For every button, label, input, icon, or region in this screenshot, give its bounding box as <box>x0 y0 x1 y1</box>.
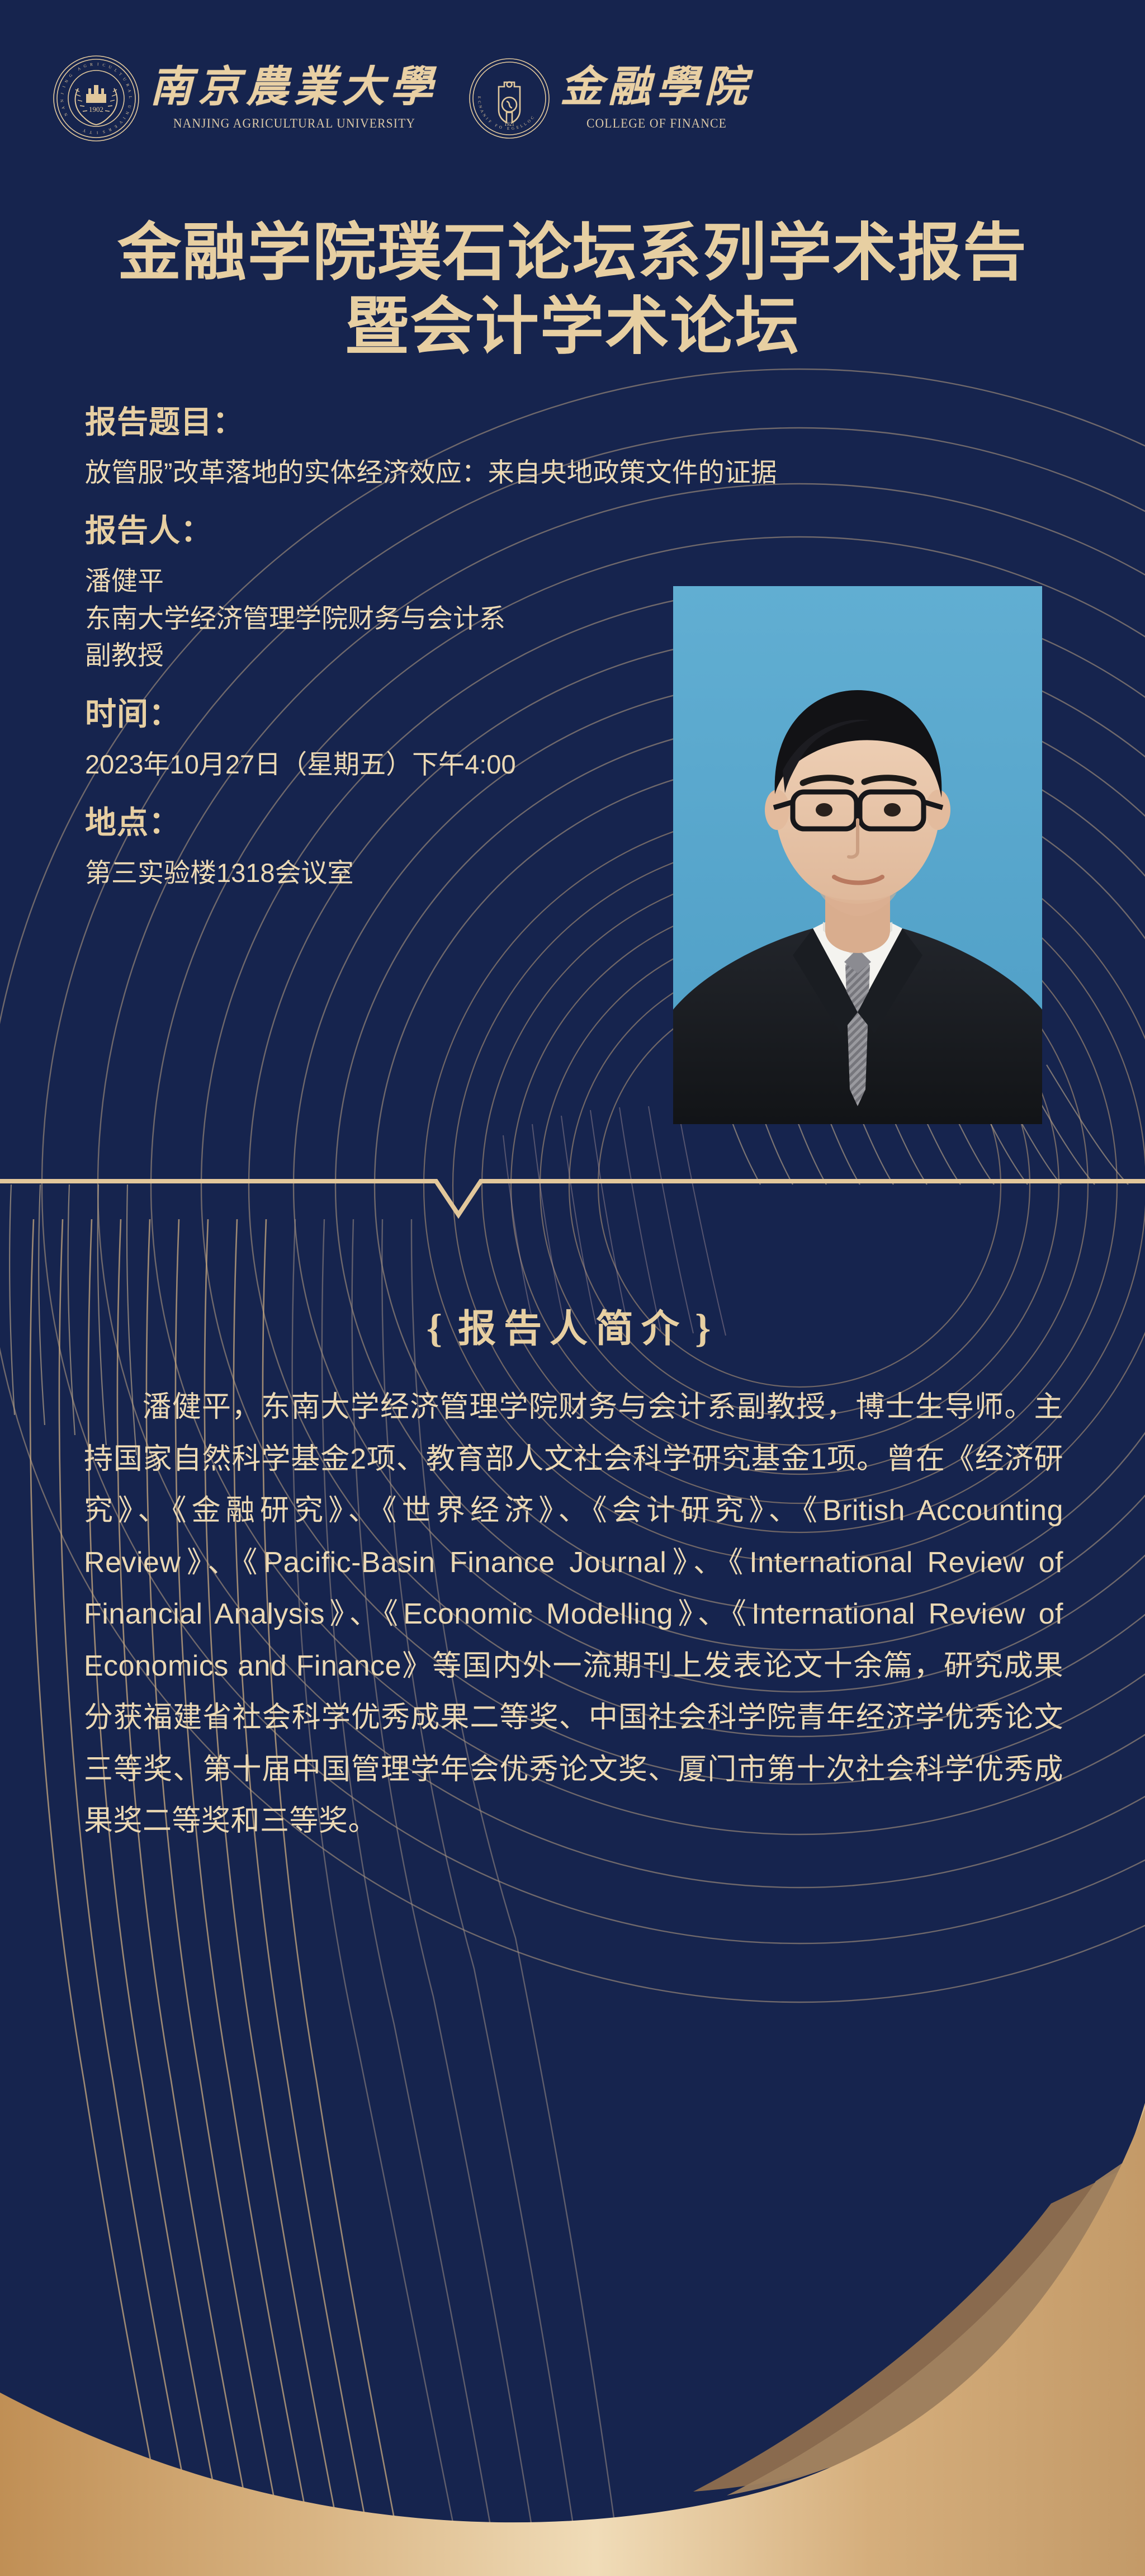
svg-text:A: A <box>479 109 484 114</box>
svg-text:E: E <box>477 96 481 99</box>
svg-text:I: I <box>62 85 67 88</box>
place-block: 地点： 第三实验楼1318会议室 <box>85 805 644 891</box>
svg-text:N: N <box>64 79 69 84</box>
svg-text:C: C <box>102 63 106 68</box>
svg-text:G: G <box>68 73 73 78</box>
header-logos: 1902 N A N J I N G A G R I C U L <box>51 54 753 143</box>
svg-text:L: L <box>128 96 133 99</box>
svg-text:O: O <box>527 119 532 124</box>
brace-left-icon: { <box>419 1306 458 1351</box>
poster-title: 金融学院璞石论坛系列学术报告 暨会计学术论坛 <box>0 216 1145 364</box>
bio-heading-text: 报告人简介 <box>458 1308 687 1350</box>
svg-text:R: R <box>108 127 112 132</box>
divider-line-with-notch-icon <box>0 1152 1145 1219</box>
college-wordmark-en: COLLEGE OF FINANCE <box>586 116 727 131</box>
university-wordmark-en: NANJING AGRICULTURAL UNIVERSITY <box>173 116 415 131</box>
svg-text:S: S <box>102 129 106 134</box>
svg-text:Y: Y <box>82 128 87 133</box>
svg-text:I: I <box>97 62 99 67</box>
svg-text:U: U <box>122 77 127 82</box>
time-block: 时间： 2023年10月27日（星期五）下午4:00 <box>85 697 644 783</box>
svg-text:I: I <box>96 130 98 135</box>
bio-paragraph-text: 潘健平，东南大学经济管理学院财务与会计系副教授，博士生导师。主持国家自然科学基金… <box>84 1391 1063 1837</box>
university-logo: 1902 N A N J I N G A G R I C U L <box>51 54 438 143</box>
bio-heading: {报告人简介} <box>0 1298 1145 1353</box>
svg-text:N: N <box>478 105 483 108</box>
svg-text:G: G <box>83 64 87 69</box>
college-wordmark: 金融學院 COLLEGE OF FINANCE <box>560 66 753 131</box>
svg-text:T: T <box>89 130 92 135</box>
brace-right-icon: } <box>687 1306 726 1351</box>
nanjing-agricultural-university-seal-icon: 1902 N A N J I N G A G R I C U L <box>51 54 141 143</box>
svg-text:A: A <box>77 66 82 72</box>
svg-text:T: T <box>118 72 123 77</box>
svg-text:E: E <box>507 126 510 131</box>
time-label: 时间： <box>85 697 644 732</box>
svg-text:C: C <box>477 101 482 104</box>
svg-text:R: R <box>90 62 93 67</box>
svg-text:N: N <box>482 113 487 118</box>
svg-text:I: I <box>485 117 489 121</box>
svg-text:N: N <box>63 112 69 117</box>
svg-text:E: E <box>113 124 118 129</box>
svg-text:I: I <box>122 116 126 120</box>
speaker-photo-illustration <box>673 586 1042 1124</box>
svg-text:J: J <box>60 92 64 95</box>
svg-text:U: U <box>126 105 131 109</box>
svg-text:U: U <box>108 65 113 70</box>
svg-text:V: V <box>118 120 124 125</box>
poster-root: 1902 N A N J I N G A G R I C U L <box>0 0 1145 2576</box>
svg-text:A: A <box>61 105 66 110</box>
time-value: 2023年10月27日（星期五）下午4:00 <box>85 746 644 784</box>
svg-text:C: C <box>530 115 535 120</box>
topic-value: 放管服”改革落地的实体经济效应：来自央地政策文件的证据 <box>85 454 644 492</box>
background-decoration <box>0 0 1145 2576</box>
speaker-block: 报告人： 潘健平 东南大学经济管理学院财务与会计系 副教授 <box>85 513 644 674</box>
college-of-finance-seal-icon: 1921 C O L L E G E O F F I N A N C <box>467 56 551 140</box>
svg-text:L: L <box>519 124 523 129</box>
event-info: 报告题目： 放管服”改革落地的实体经济效应：来自央地政策文件的证据 报告人： 潘… <box>85 405 644 914</box>
svg-text:O: O <box>499 125 503 130</box>
svg-text:A: A <box>127 89 132 93</box>
speaker-affiliation: 东南大学经济管理学院财务与会计系 <box>85 600 644 638</box>
svg-text:G: G <box>512 126 515 131</box>
place-value: 第三实验楼1318会议室 <box>85 855 644 892</box>
speaker-portrait <box>673 586 1042 1124</box>
svg-text:L: L <box>523 121 528 126</box>
speaker-label: 报告人： <box>85 513 644 548</box>
svg-text:L: L <box>113 68 118 73</box>
svg-text:R: R <box>125 83 130 87</box>
topic-block: 报告题目： 放管服”改革落地的实体经济效应：来自央地政策文件的证据 <box>85 405 644 491</box>
title-line-2: 暨会计学术论坛 <box>0 290 1145 364</box>
college-wordmark-cn: 金融學院 <box>560 66 753 108</box>
speaker-name: 潘健平 <box>85 563 644 600</box>
topic-label: 报告题目： <box>85 405 644 440</box>
seal-year: 1902 <box>89 105 103 114</box>
svg-text:F: F <box>494 123 498 128</box>
bio-paragraph: 潘健平，东南大学经济管理学院财务与会计系副教授，博士生导师。主持国家自然科学基金… <box>84 1381 1063 1847</box>
university-wordmark-cn: 南京農業大學 <box>150 66 438 108</box>
university-wordmark: 南京農業大學 NANJING AGRICULTURAL UNIVERSITY <box>150 66 438 131</box>
speaker-title: 副教授 <box>85 637 644 674</box>
svg-text:N: N <box>124 111 130 116</box>
svg-text:F: F <box>488 119 492 124</box>
place-label: 地点： <box>85 805 644 840</box>
college-logo: 1921 C O L L E G E O F F I N A N C <box>467 56 753 140</box>
section-divider <box>0 1152 1145 1219</box>
title-line-1: 金融学院璞石论坛系列学术报告 <box>0 216 1145 290</box>
svg-text:N: N <box>60 99 64 103</box>
svg-text:E: E <box>516 125 519 130</box>
